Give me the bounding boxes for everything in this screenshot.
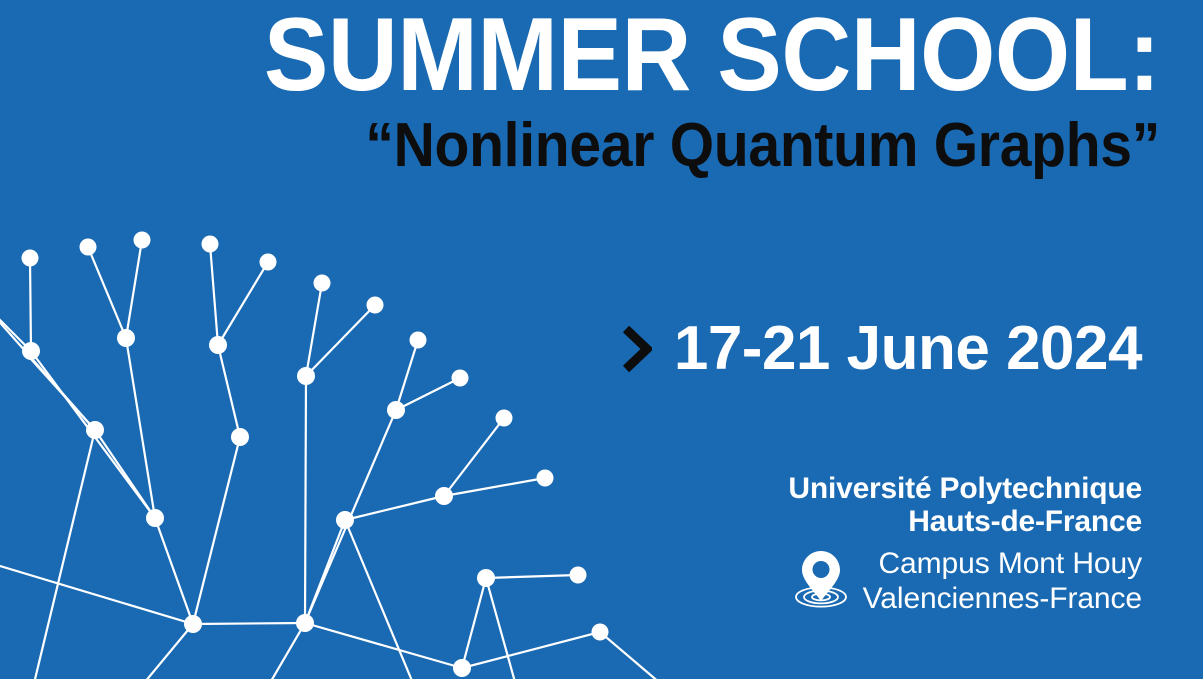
chevron-right-icon [622, 326, 652, 372]
venue-place-line1: Campus Mont Houy [863, 546, 1142, 581]
venue-organisation-line1: Université Polytechnique [622, 472, 1142, 505]
page-title: SUMMER SCHOOL: [81, 0, 1160, 110]
graph-edges [0, 240, 680, 679]
event-date-text: 17-21 June 2024 [674, 318, 1142, 380]
headline-block: SUMMER SCHOOL: “Nonlinear Quantum Graphs… [0, 0, 1160, 182]
venue-place-line2: Valenciennes-France [863, 581, 1142, 616]
page-subtitle: “Nonlinear Quantum Graphs” [93, 110, 1160, 182]
venue-block: Université Polytechnique Hauts-de-France… [622, 472, 1142, 616]
poster-root: SUMMER SCHOOL: “Nonlinear Quantum Graphs… [0, 0, 1203, 679]
event-date: 17-21 June 2024 [622, 318, 1142, 380]
map-pin-icon [795, 550, 847, 612]
graph-nodes [22, 232, 609, 678]
venue-location: Campus Mont Houy Valenciennes-France [622, 546, 1142, 616]
venue-organisation-line2: Hauts-de-France [622, 505, 1142, 538]
venue-place: Campus Mont Houy Valenciennes-France [863, 546, 1142, 616]
